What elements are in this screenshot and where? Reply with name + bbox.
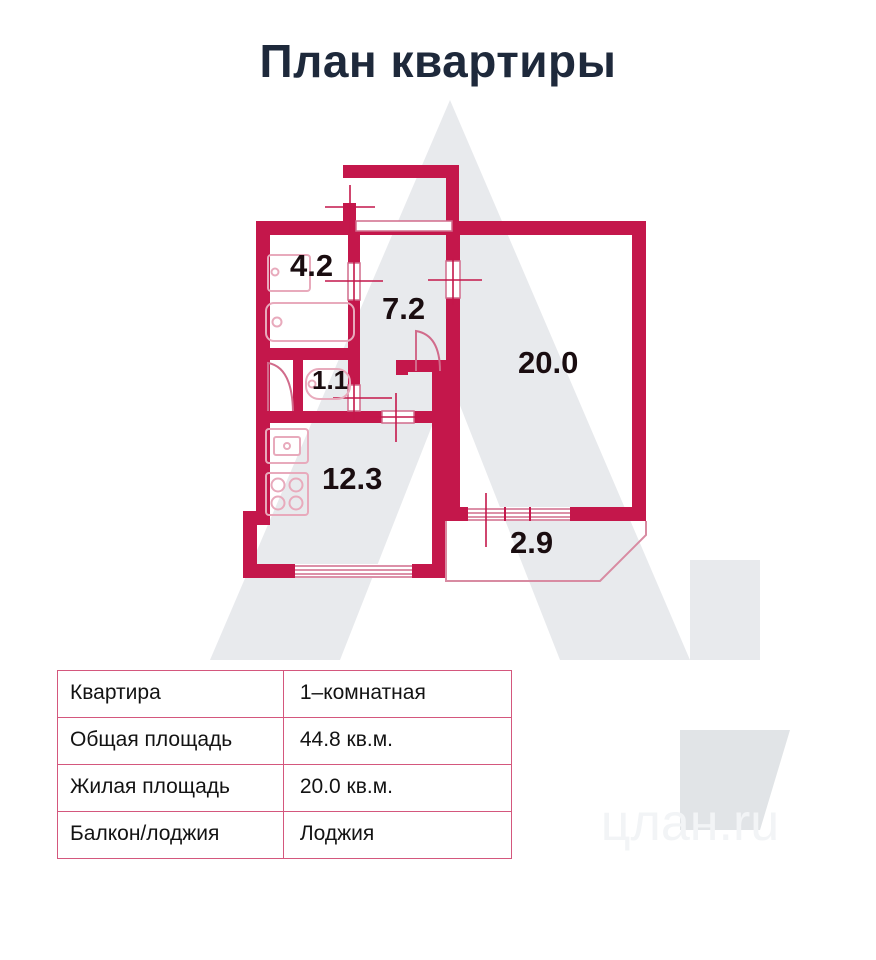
table-row: Жилая площадь 20.0 кв.м. [58, 765, 512, 812]
table-cell-value: 1–комнатная [283, 671, 511, 718]
wall-living-room-bottom-right [570, 507, 646, 521]
wall-vestibule-right [446, 165, 459, 228]
table-cell-label: Балкон/лоджия [58, 812, 284, 859]
wall-top-left-block [256, 221, 356, 235]
table-cell-value: Лоджия [283, 812, 511, 859]
wall-living-room-left-b [446, 298, 460, 521]
table-row: Общая площадь 44.8 кв.м. [58, 718, 512, 765]
table-cell-label: Жилая площадь [58, 765, 284, 812]
wall-vestibule-top [343, 165, 459, 178]
table-cell-label: Общая площадь [58, 718, 284, 765]
room-label-hallway: 7.2 [382, 293, 425, 324]
table-cell-value: 44.8 кв.м. [283, 718, 511, 765]
apartment-floor-plan: 4.2 7.2 1.1 12.3 20.0 2.9 [0, 115, 876, 615]
room-label-bathroom: 4.2 [290, 250, 333, 281]
loggia-door-window [468, 507, 570, 521]
table-row: Балкон/лоджия Лоджия [58, 812, 512, 859]
watermark-trapezoid [680, 730, 790, 830]
entrance-door-opening [356, 221, 452, 231]
wall-top-living-room [446, 221, 646, 235]
wall-bottom-kitchen-left [243, 564, 295, 578]
stove-icon [266, 473, 308, 515]
wall-living-room-right [632, 221, 646, 521]
wall-hall-alcove-left [396, 360, 408, 375]
room-label-living-room: 20.0 [518, 347, 578, 378]
page-title: План квартиры [0, 34, 876, 88]
floor-plan-drawing [0, 115, 876, 615]
watermark-text: цлан.ru [601, 794, 779, 852]
wall-bathroom-right-upper [348, 235, 360, 263]
wall-bathroom-bottom [256, 348, 360, 360]
room-label-toilet: 1.1 [312, 367, 348, 393]
wall-kitchen-right [432, 360, 446, 578]
apartment-info-table: Квартира 1–комнатная Общая площадь 44.8 … [57, 670, 512, 859]
table-cell-value: 20.0 кв.м. [283, 765, 511, 812]
toilet-door-swing [268, 363, 293, 411]
wall-vestibule-left-upper [343, 165, 356, 177]
kitchen-window [295, 564, 412, 578]
kitchen-sink-icon [266, 429, 308, 463]
table-cell-label: Квартира [58, 671, 284, 718]
room-label-loggia: 2.9 [510, 527, 553, 558]
wall-living-room-bottom-left [446, 507, 468, 521]
table-row: Квартира 1–комнатная [58, 671, 512, 718]
room-label-kitchen: 12.3 [322, 463, 382, 494]
wall-kitchen-top-left [256, 411, 382, 423]
bathtub-icon [266, 303, 354, 341]
